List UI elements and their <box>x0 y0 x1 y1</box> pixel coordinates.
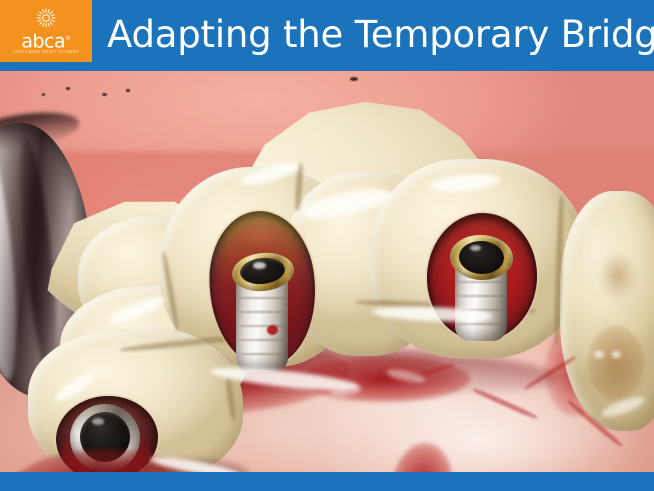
abutment-ridge <box>238 297 286 299</box>
trademark-symbol: ® <box>65 35 71 42</box>
slide-root: abca® ALOHA BONE GRAFT ACADEMY Adapting … <box>0 0 654 491</box>
logo-tagline: ALOHA BONE GRAFT ACADEMY <box>4 49 89 54</box>
page-title: Adapting the Temporary Bridge <box>107 9 647 61</box>
abutment-blood-fleck <box>267 325 278 335</box>
abutment-ridge <box>238 353 286 355</box>
screw-specular-center <box>253 262 266 269</box>
tissue-speck <box>42 93 45 96</box>
tissue-speck <box>66 87 70 90</box>
brand-logo[interactable]: abca® ALOHA BONE GRAFT ACADEMY <box>0 0 92 62</box>
footer-bar <box>0 472 654 491</box>
tissue-specular <box>612 351 621 358</box>
abutment-ridge <box>238 311 286 313</box>
abutment-ridge <box>457 295 505 297</box>
logo-wordmark: abca® <box>0 29 92 51</box>
clinical-photograph <box>0 71 654 472</box>
tissue-speck <box>350 77 358 81</box>
screw-specular-right <box>470 245 481 251</box>
screw-specular-distal <box>92 418 104 425</box>
abutment-ridge <box>238 339 286 341</box>
tissue-speck <box>126 89 130 92</box>
abutment-ridge <box>238 325 286 327</box>
tissue-speck <box>102 93 107 96</box>
tooth-stain <box>588 326 644 400</box>
tissue-specular <box>594 351 604 358</box>
abutment-ridge <box>457 281 505 283</box>
tooth-stain <box>598 251 638 301</box>
abutment-ridge <box>457 323 505 325</box>
